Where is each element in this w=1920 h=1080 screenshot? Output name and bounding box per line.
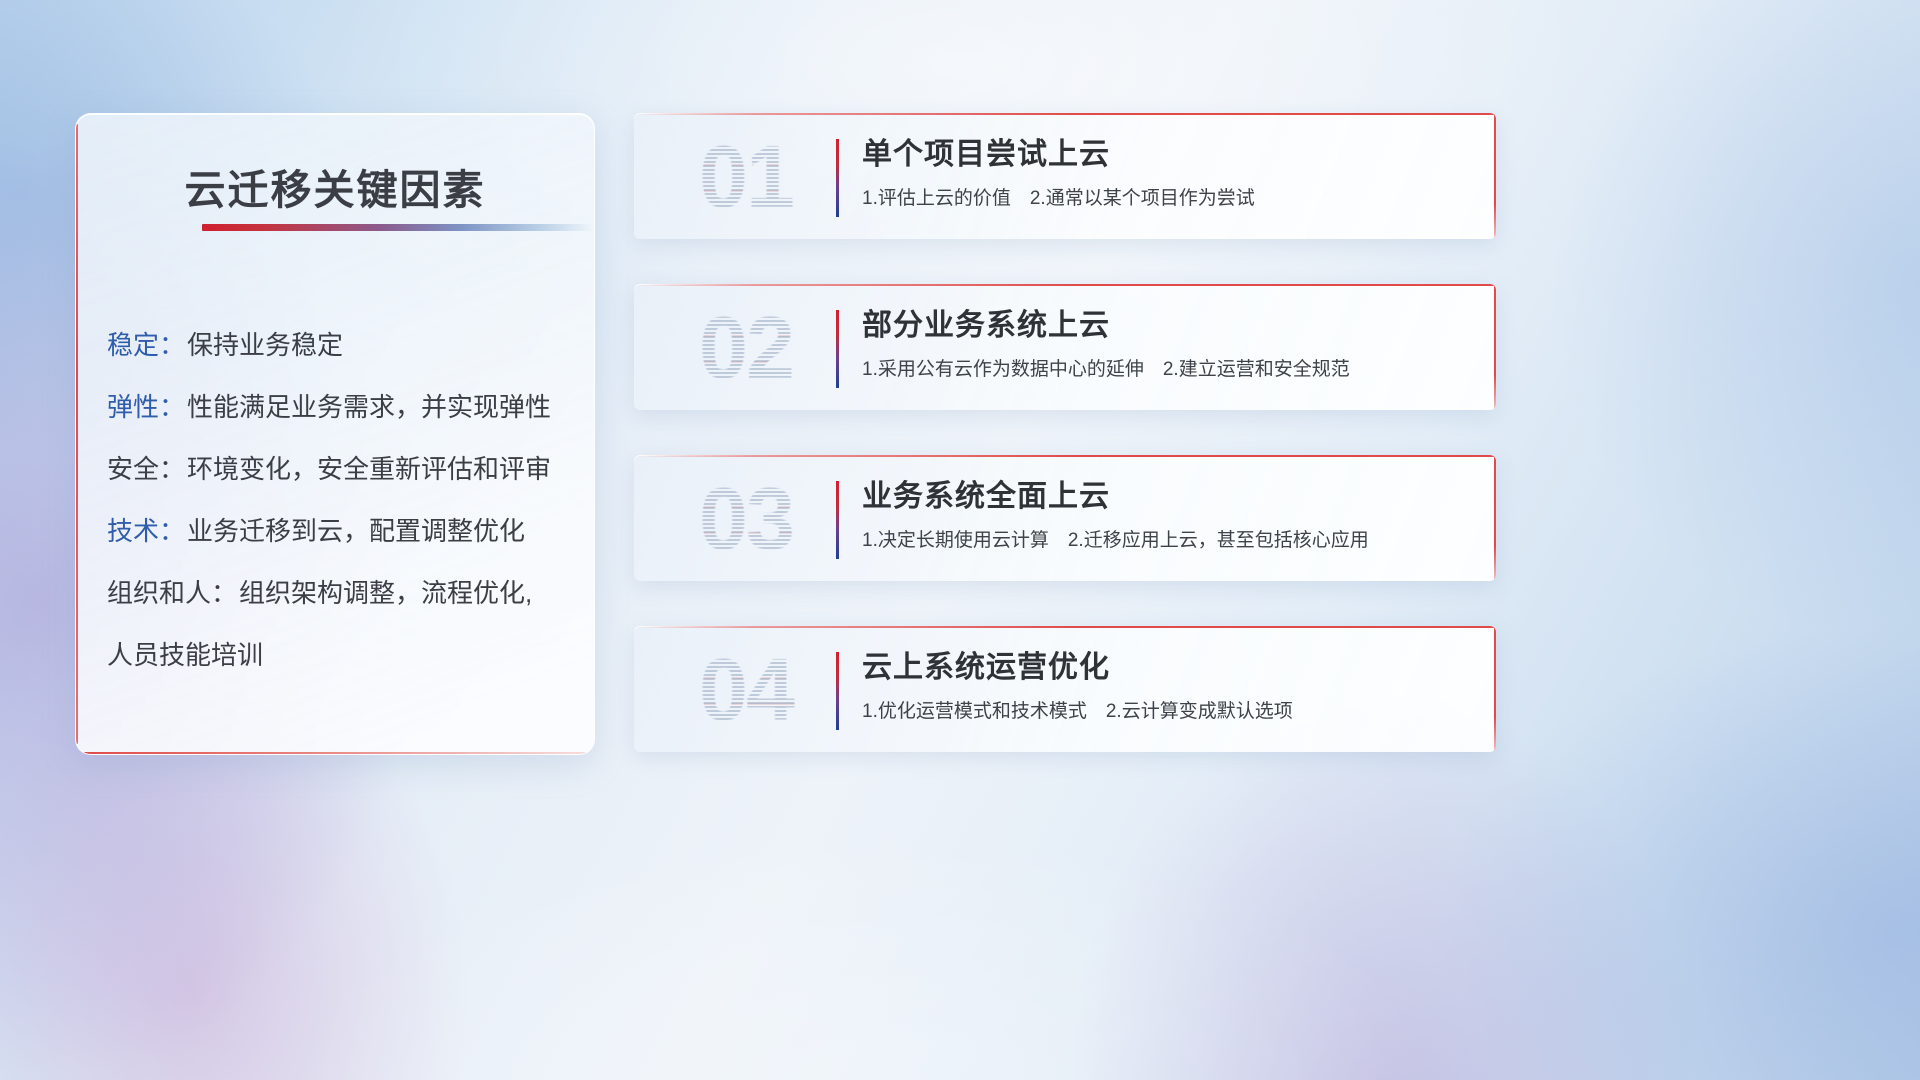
key-factor-text: 组织架构调整，流程优化, xyxy=(239,580,532,606)
key-factor-label: 弹性： xyxy=(107,394,185,420)
key-factor-row: 弹性：性能满足业务需求，并实现弹性 xyxy=(107,376,574,438)
stage-description: 1.采用公有云作为数据中心的延伸 2.建立运营和安全规范 xyxy=(862,357,1470,383)
stage-title: 云上系统运营优化 xyxy=(862,648,1470,688)
stage-description: 1.优化运营模式和技术模式 2.云计算变成默认选项 xyxy=(862,699,1470,725)
stage-number: 01 xyxy=(656,129,836,225)
stage-number: 04 xyxy=(656,642,836,738)
key-factor-label: 技术： xyxy=(107,518,185,544)
key-factors-list: 稳定：保持业务稳定弹性：性能满足业务需求，并实现弹性安全：环境变化，安全重新评估… xyxy=(107,314,574,686)
page-title: 云迁移关键因素 xyxy=(76,156,594,216)
key-factor-row: 安全：环境变化，安全重新评估和评审 xyxy=(107,438,574,500)
stage-title: 业务系统全面上云 xyxy=(862,477,1470,517)
stage-accent-bar xyxy=(836,481,839,559)
stage-card[interactable]: 0101单个项目尝试上云1.评估上云的价值 2.通常以某个项目作为尝试 xyxy=(634,113,1496,239)
key-factor-text: 业务迁移到云，配置调整优化 xyxy=(187,518,525,544)
stage-card[interactable]: 0202部分业务系统上云1.采用公有云作为数据中心的延伸 2.建立运营和安全规范 xyxy=(634,284,1496,410)
key-factor-text: 性能满足业务需求，并实现弹性 xyxy=(187,394,551,420)
stages-card-list: 0101单个项目尝试上云1.评估上云的价值 2.通常以某个项目作为尝试0202部… xyxy=(634,113,1496,797)
key-factor-row: 技术：业务迁移到云，配置调整优化 xyxy=(107,500,574,562)
key-factor-row: 稳定：保持业务稳定 xyxy=(107,314,574,376)
key-factor-text: 人员技能培训 xyxy=(107,642,263,668)
title-underline xyxy=(202,224,594,231)
key-factor-label: 安全： xyxy=(107,456,185,482)
stage-accent-bar xyxy=(836,139,839,217)
key-factor-label: 组织和人： xyxy=(107,580,237,606)
key-factor-row: 人员技能培训 xyxy=(107,624,574,686)
stage-card-body: 单个项目尝试上云1.评估上云的价值 2.通常以某个项目作为尝试 xyxy=(862,135,1470,212)
key-factor-text: 保持业务稳定 xyxy=(187,332,343,358)
key-factor-text: 环境变化，安全重新评估和评审 xyxy=(187,456,551,482)
stage-title: 部分业务系统上云 xyxy=(862,306,1470,346)
key-factors-panel: 云迁移关键因素 稳定：保持业务稳定弹性：性能满足业务需求，并实现弹性安全：环境变… xyxy=(75,113,595,755)
stage-number: 02 xyxy=(656,300,836,396)
stage-title: 单个项目尝试上云 xyxy=(862,135,1470,175)
stage-card-body: 业务系统全面上云1.决定长期使用云计算 2.迁移应用上云，甚至包括核心应用 xyxy=(862,477,1470,554)
key-factor-row: 组织和人：组织架构调整，流程优化, xyxy=(107,562,574,624)
stage-accent-bar xyxy=(836,652,839,730)
stage-description: 1.评估上云的价值 2.通常以某个项目作为尝试 xyxy=(862,186,1470,212)
stage-accent-bar xyxy=(836,310,839,388)
stage-card-body: 云上系统运营优化1.优化运营模式和技术模式 2.云计算变成默认选项 xyxy=(862,648,1470,725)
stage-description: 1.决定长期使用云计算 2.迁移应用上云，甚至包括核心应用 xyxy=(862,528,1470,554)
key-factor-label: 稳定： xyxy=(107,332,185,358)
stage-card[interactable]: 0404云上系统运营优化1.优化运营模式和技术模式 2.云计算变成默认选项 xyxy=(634,626,1496,752)
stage-number: 03 xyxy=(656,471,836,567)
stage-card[interactable]: 0303业务系统全面上云1.决定长期使用云计算 2.迁移应用上云，甚至包括核心应… xyxy=(634,455,1496,581)
stage-card-body: 部分业务系统上云1.采用公有云作为数据中心的延伸 2.建立运营和安全规范 xyxy=(862,306,1470,383)
